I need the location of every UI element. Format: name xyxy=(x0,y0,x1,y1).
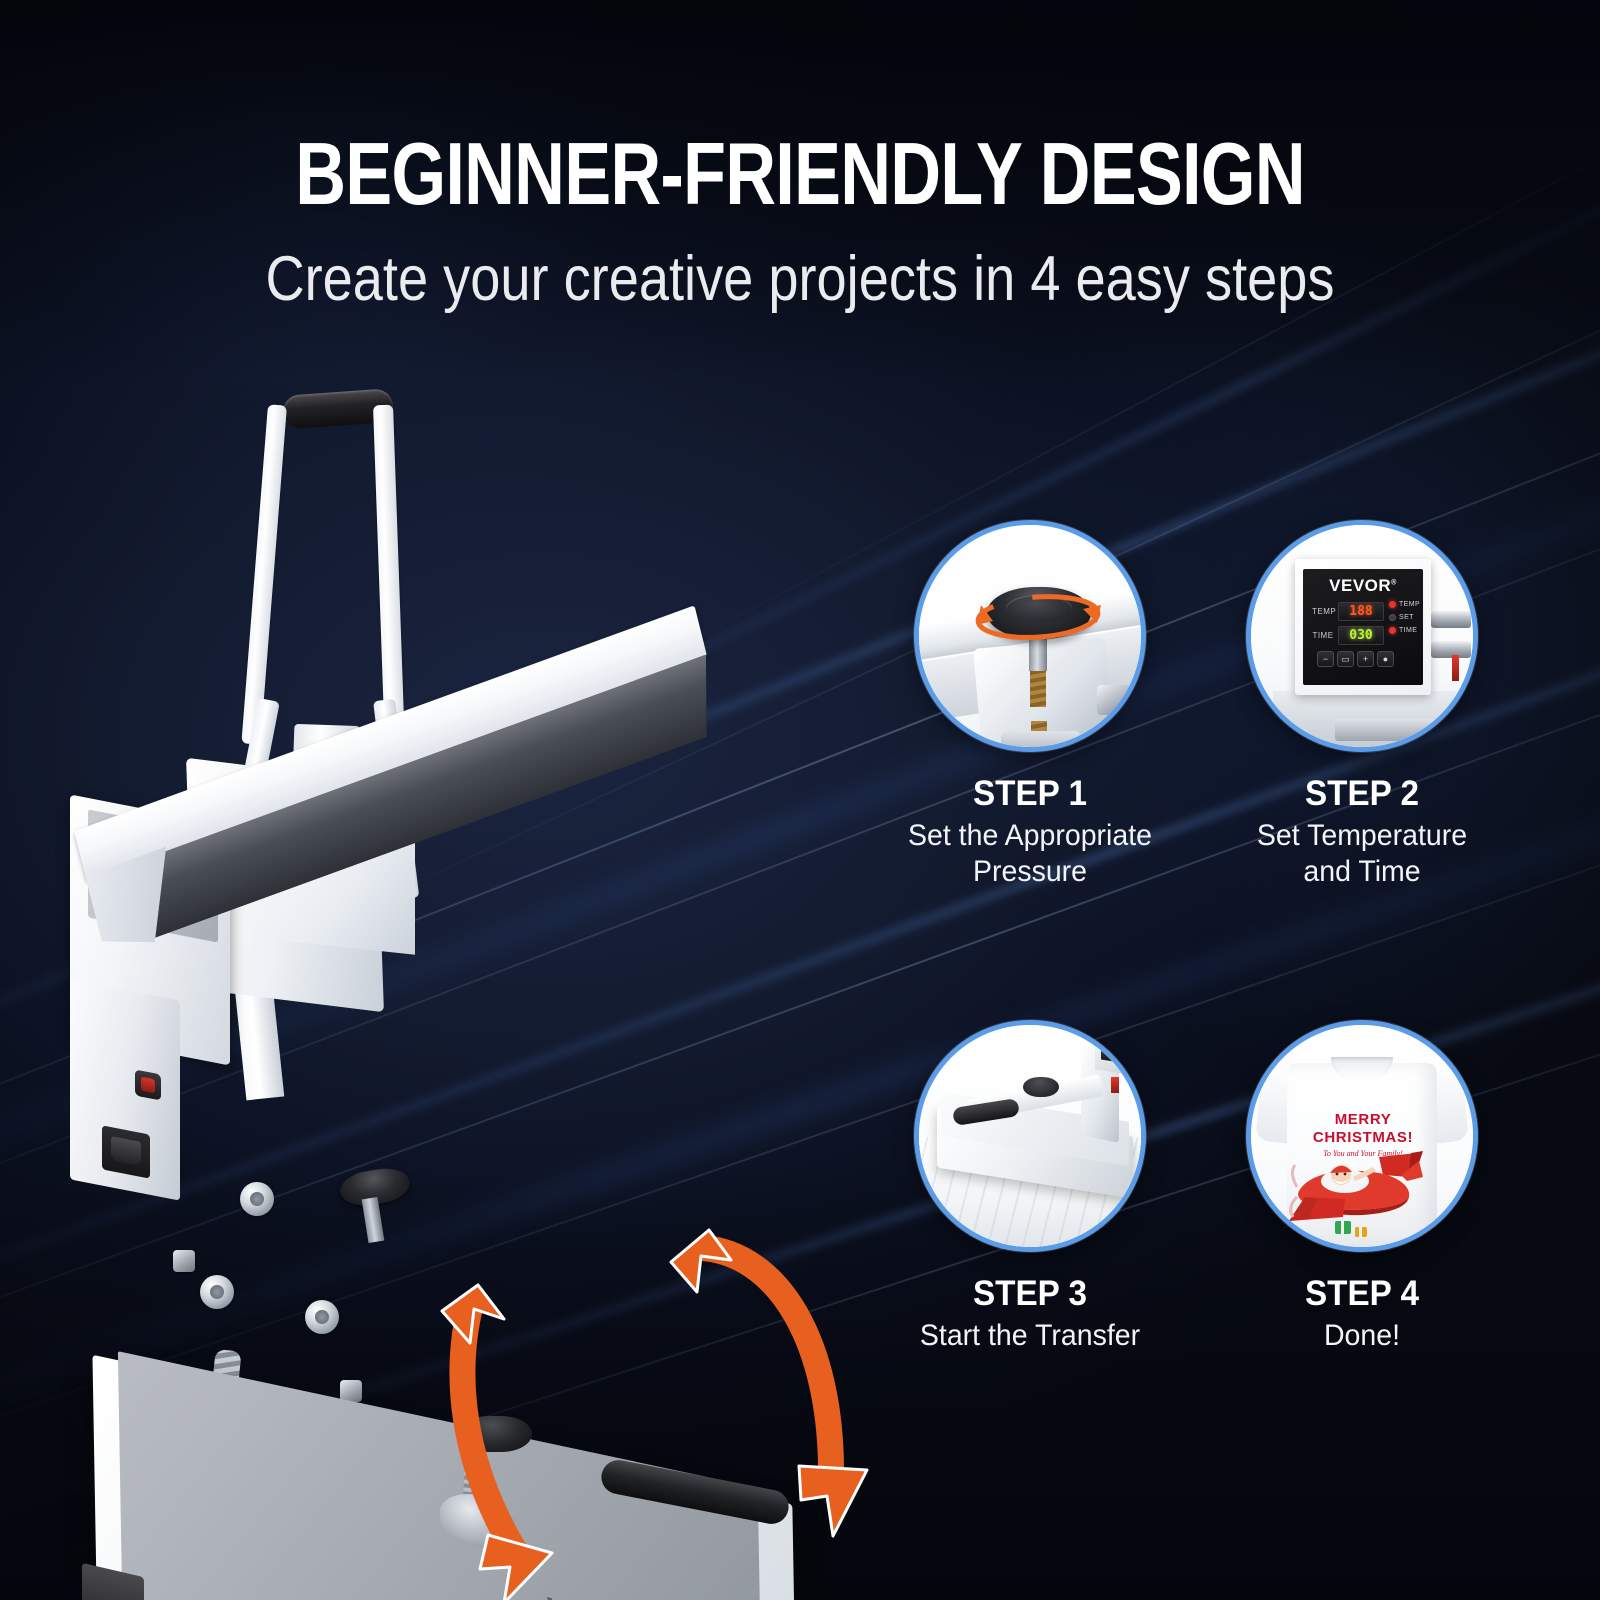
temp-display: 188 xyxy=(1338,602,1384,621)
key-minus[interactable]: − xyxy=(1317,651,1334,667)
print-line-1: MERRY xyxy=(1335,1111,1392,1128)
step-4-image: MERRY CHRISTMAS! To You and Your Family! xyxy=(1246,1020,1478,1252)
press-body-below-panel xyxy=(1273,691,1463,747)
key-plus[interactable]: + xyxy=(1357,651,1374,667)
led-set-dot-icon xyxy=(1389,614,1396,621)
led-time-dot-icon xyxy=(1389,627,1396,634)
led-time-label: TIME xyxy=(1399,627,1417,634)
control-panel-bezel: VEVOR® TEMP 188 TIME 030 xyxy=(1295,559,1431,695)
pivot-bolt-mid xyxy=(305,1300,339,1334)
led-temp: TEMP xyxy=(1389,601,1420,608)
power-switch[interactable] xyxy=(135,1069,161,1100)
press-pressure-knob xyxy=(1023,1077,1059,1097)
step-3-desc-line1: Start the Transfer xyxy=(888,1318,1173,1354)
pivot-bolt-lower xyxy=(200,1275,234,1309)
finished-tshirt-photo: MERRY CHRISTMAS! To You and Your Family! xyxy=(1251,1025,1473,1247)
upper-heat-platen xyxy=(74,605,755,1075)
step-1-title: STEP 1 xyxy=(888,774,1173,813)
page-title: BEGINNER-FRIENDLY DESIGN xyxy=(160,130,1440,218)
step-3-title: STEP 3 xyxy=(888,1274,1173,1313)
panel-key-row[interactable]: − ▭ + ● xyxy=(1317,651,1394,667)
step-1-desc-line1: Set the Appropriate xyxy=(888,818,1173,854)
cylinder-upper xyxy=(1431,611,1471,628)
close-motion-arrow-left xyxy=(440,1285,670,1600)
temp-row: TEMP 188 xyxy=(1312,602,1384,621)
handle-arm-left xyxy=(241,404,287,744)
key-power[interactable]: ● xyxy=(1377,651,1394,667)
step-3-image xyxy=(914,1020,1146,1252)
step-2-desc-line2: and Time xyxy=(1220,854,1505,890)
rotation-arrows-icon xyxy=(919,525,1146,752)
heat-press-product-illustration: VEVOR VEVOR® xyxy=(40,370,840,1490)
printed-tshirt: MERRY CHRISTMAS! To You and Your Family! xyxy=(1259,1039,1465,1249)
step-card-2: VEVOR® TEMP 188 TIME 030 xyxy=(1212,520,1512,890)
time-row: TIME 030 xyxy=(1312,626,1384,645)
led-time: TIME xyxy=(1389,627,1420,634)
press-rail xyxy=(1335,719,1443,741)
control-panel-screen-area: VEVOR® TEMP 188 TIME 030 xyxy=(1303,569,1423,685)
pivot-bolt-upper xyxy=(240,1182,274,1216)
step-2-desc-line1: Set Temperature xyxy=(1220,818,1505,854)
led-temp-label: TEMP xyxy=(1399,601,1420,608)
step-2-title: STEP 2 xyxy=(1220,774,1505,813)
time-label: TIME xyxy=(1312,631,1334,640)
frame-nut-a xyxy=(173,1250,195,1272)
led-set-label: SET xyxy=(1399,614,1414,621)
step-2-image: VEVOR® TEMP 188 TIME 030 xyxy=(1246,520,1478,752)
step-card-4: MERRY CHRISTMAS! To You and Your Family! xyxy=(1212,1020,1512,1354)
close-motion-arrow-right xyxy=(665,1230,895,1580)
temp-label: TEMP xyxy=(1312,607,1334,616)
control-panel-photo: VEVOR® TEMP 188 TIME 030 xyxy=(1251,525,1473,747)
print-line-2: CHRISTMAS! xyxy=(1313,1129,1413,1146)
key-set[interactable]: ▭ xyxy=(1337,651,1354,667)
step-card-3: STEP 3 Start the Transfer xyxy=(880,1020,1180,1354)
indicator-leds: TEMP SET TIME xyxy=(1389,601,1420,640)
pressure-knob-photo xyxy=(919,525,1141,747)
step-1-desc-line2: Pressure xyxy=(888,854,1173,890)
santa-airplane-graphic-icon xyxy=(1283,1151,1435,1225)
time-value: 030 xyxy=(1349,629,1372,642)
panel-brand-logo: VEVOR® xyxy=(1303,576,1423,596)
step-card-1: STEP 1 Set the Appropriate Pressure xyxy=(880,520,1180,890)
temp-value: 188 xyxy=(1349,605,1372,618)
pressure-knob-stem xyxy=(362,1197,385,1243)
step-4-title: STEP 4 xyxy=(1220,1274,1505,1313)
step-1-image xyxy=(914,520,1146,752)
led-temp-dot-icon xyxy=(1389,601,1396,608)
gift-box-gold-icon xyxy=(1355,1227,1367,1237)
red-switch-strip xyxy=(1452,655,1459,681)
time-display: 030 xyxy=(1338,626,1384,645)
gift-box-green-icon xyxy=(1335,1221,1351,1234)
power-socket xyxy=(102,1125,150,1178)
press-red-switch xyxy=(1111,1077,1119,1093)
cylinder-lower xyxy=(1431,641,1471,658)
led-set: SET xyxy=(1389,614,1420,621)
press-on-shirt-photo xyxy=(919,1025,1141,1247)
step-4-desc-line1: Done! xyxy=(1220,1318,1505,1354)
page-subtitle: Create your creative projects in 4 easy … xyxy=(112,248,1488,311)
image-canvas: BEGINNER-FRIENDLY DESIGN Create your cre… xyxy=(0,0,1600,1600)
